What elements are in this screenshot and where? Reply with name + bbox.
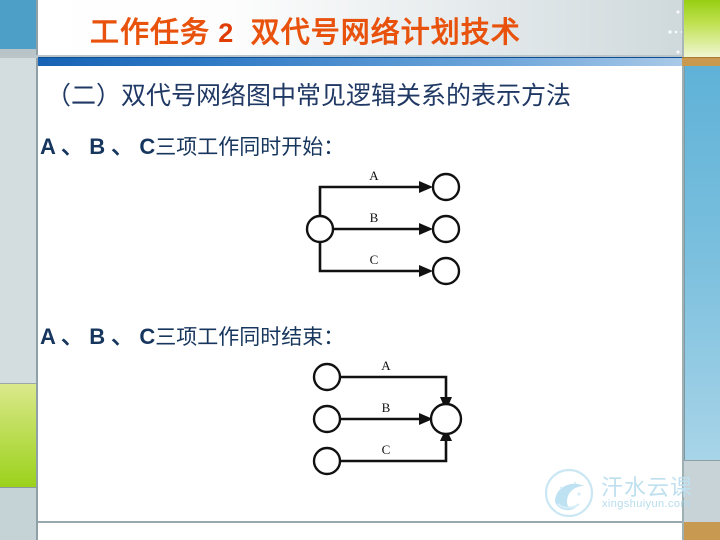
edge-label-a: A	[369, 168, 379, 183]
right-rail-grey	[684, 460, 720, 523]
edge-label-a: A	[381, 358, 391, 373]
left-decoration-rail	[0, 0, 37, 540]
bullet-heading-2: A 、 B 、 C三项工作同时结束：	[40, 319, 344, 351]
bullet-heading-1-latin: A 、 B 、 C	[40, 134, 155, 159]
edge-label-b: B	[382, 400, 391, 415]
bullet-heading-1-chinese: 三项工作同时开始：	[155, 135, 344, 159]
arrowhead-c	[419, 265, 433, 277]
node-end	[431, 404, 461, 434]
node-end-b	[433, 216, 459, 242]
right-rail-green	[684, 0, 720, 57]
node-start-c	[314, 448, 340, 474]
right-rail-tan	[684, 522, 720, 540]
node-end-c	[433, 258, 459, 284]
node-start-b	[314, 406, 340, 432]
bullet-heading-2-chinese: 三项工作同时结束：	[155, 325, 344, 349]
bullet-heading-1: A 、 B 、 C三项工作同时开始：	[40, 129, 344, 161]
section-subtitle: （二）双代号网络图中常见逻辑关系的表示方法	[46, 76, 571, 112]
node-start-a	[314, 364, 340, 390]
node-end-a	[433, 174, 459, 200]
page-title-number: 2	[218, 18, 234, 48]
right-rail-green-edge	[682, 0, 684, 57]
slide-canvas: 工作任务 2 双代号网络计划技术	[0, 0, 720, 540]
edge-label-b: B	[370, 210, 379, 225]
edge-label-c: C	[370, 252, 379, 267]
rail-block-green	[0, 384, 37, 488]
edge-label-c: C	[382, 442, 391, 457]
page-title-prefix: 工作任务	[90, 17, 210, 49]
right-rail-blue	[684, 66, 720, 460]
slide-header-band: 工作任务 2 双代号网络计划技术	[38, 0, 682, 55]
rail-block-grey	[0, 56, 37, 384]
slide-content: （二）双代号网络图中常见逻辑关系的表示方法 A 、 B 、 C三项工作同时开始：	[38, 66, 682, 521]
diagram-three-activities-start-together: A B C	[296, 161, 486, 301]
rail-block-bottom-grey	[0, 488, 37, 540]
bullet-heading-2-latin: A 、 B 、 C	[40, 324, 155, 349]
arrowhead-a	[419, 181, 433, 193]
page-title-suffix: 双代号网络计划技术	[251, 17, 521, 49]
rail-block-blue	[0, 0, 37, 49]
page-title: 工作任务 2 双代号网络计划技术	[90, 9, 521, 51]
footer-band	[38, 523, 682, 540]
node-start	[307, 216, 333, 242]
diagram-three-activities-finish-together: A B C	[306, 351, 496, 491]
arrowhead-b	[419, 223, 433, 235]
